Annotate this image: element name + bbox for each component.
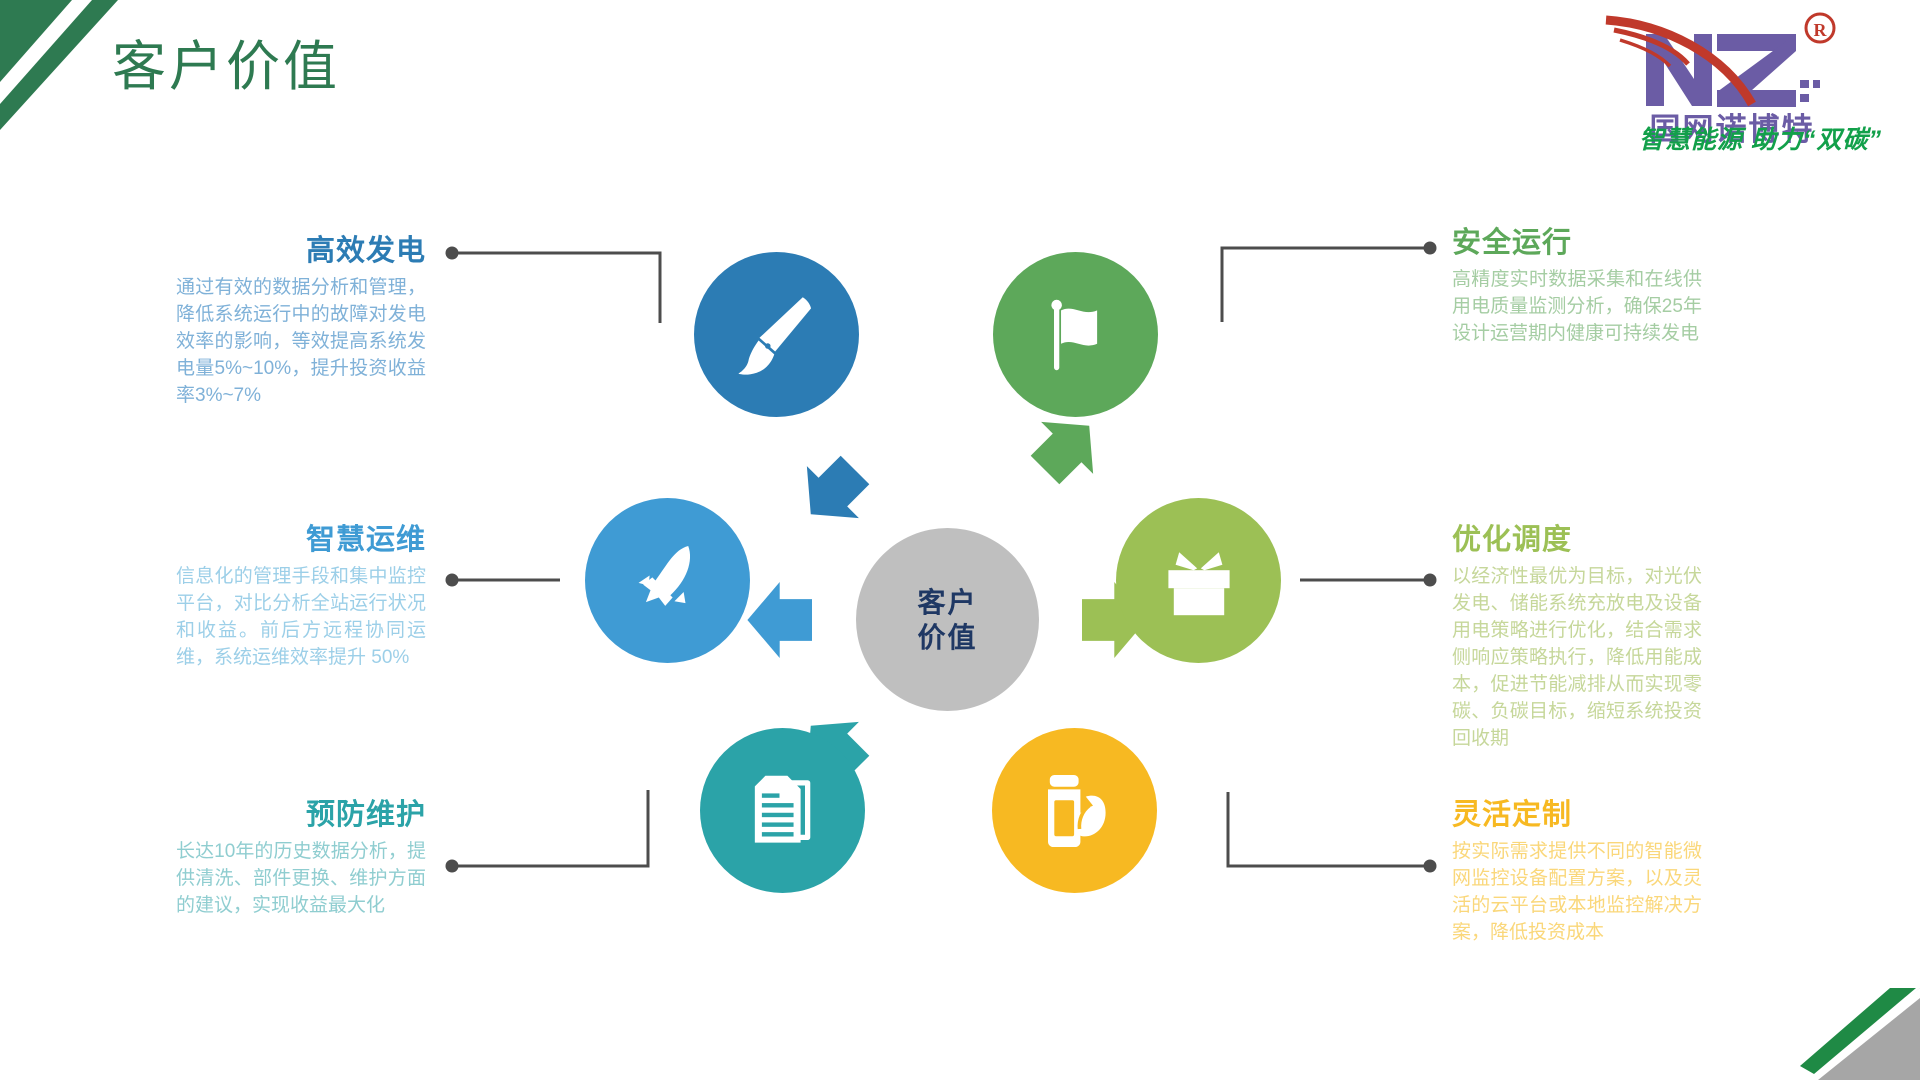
block-heading: 智慧运维 bbox=[176, 525, 426, 557]
block-heading: 安全运行 bbox=[1452, 228, 1702, 260]
gift-box-icon bbox=[1154, 536, 1244, 626]
arrow-up-left bbox=[785, 444, 881, 540]
center-hub-label: 客户 价值 bbox=[917, 585, 977, 655]
node-preventive-maintenance[interactable] bbox=[700, 728, 865, 893]
node-flexible-customization[interactable] bbox=[992, 728, 1157, 893]
text-block-smart-operation-maintenance: 智慧运维 信息化的管理手段和集中监控平台，对比分析全站运行状况和收益。前后方远程… bbox=[176, 525, 426, 672]
center-hub-line2: 价值 bbox=[917, 620, 977, 655]
text-block-high-efficiency-generation: 高效发电 通过有效的数据分析和管理，降低系统运行中的故障对发电效率的影响，等效提… bbox=[176, 236, 426, 410]
corner-decoration-bottom-right bbox=[1770, 988, 1920, 1080]
text-block-flexible-customization: 灵活定制 按实际需求提供不同的智能微网监控设备配置方案，以及灵活的云平台或本地监… bbox=[1452, 800, 1702, 947]
node-smart-operation-maintenance[interactable] bbox=[585, 498, 750, 663]
flag-icon bbox=[1032, 291, 1120, 379]
block-heading: 预防维护 bbox=[176, 800, 426, 832]
text-block-optimized-dispatch: 优化调度 以经济性最优为目标，对光伏发电、储能系统充放电及设备用电策略进行优化，… bbox=[1452, 525, 1702, 753]
block-heading: 优化调度 bbox=[1452, 525, 1702, 557]
node-optimized-dispatch[interactable] bbox=[1116, 498, 1281, 663]
block-heading: 灵活定制 bbox=[1452, 800, 1702, 832]
center-hub: 客户 价值 bbox=[856, 528, 1039, 711]
documents-icon bbox=[739, 767, 827, 855]
slide-canvas: 客户价值 R 国网诺博特 智慧能源 助力“双碳” bbox=[0, 0, 1920, 1080]
bottle-leaf-icon bbox=[1030, 766, 1120, 856]
text-block-preventive-maintenance: 预防维护 长达10年的历史数据分析，提供清洗、部件更换、维护方面的建议，实现收益… bbox=[176, 800, 426, 920]
block-body: 通过有效的数据分析和管理，降低系统运行中的故障对发电效率的影响，等效提高系统发电… bbox=[176, 275, 426, 410]
block-body: 高精度实时数据采集和在线供用电质量监测分析，确保25年设计运营期内健康可持续发电 bbox=[1452, 267, 1702, 348]
block-body: 信息化的管理手段和集中监控平台，对比分析全站运行状况和收益。前后方远程协同运维，… bbox=[176, 564, 426, 672]
node-safe-operation[interactable] bbox=[993, 252, 1158, 417]
block-heading: 高效发电 bbox=[176, 236, 426, 268]
arrow-left bbox=[747, 582, 812, 658]
block-body: 长达10年的历史数据分析，提供清洗、部件更换、维护方面的建议，实现收益最大化 bbox=[176, 839, 426, 920]
node-high-efficiency-generation[interactable] bbox=[694, 252, 859, 417]
block-body: 以经济性最优为目标，对光伏发电、储能系统充放电及设备用电策略进行优化，结合需求侧… bbox=[1452, 564, 1702, 753]
block-body: 按实际需求提供不同的智能微网监控设备配置方案，以及灵活的云平台或本地监控解决方案… bbox=[1452, 839, 1702, 947]
rocket-icon bbox=[622, 535, 714, 627]
paintbrush-icon bbox=[731, 289, 823, 381]
center-hub-line1: 客户 bbox=[917, 585, 977, 620]
text-block-safe-operation: 安全运行 高精度实时数据采集和在线供用电质量监测分析，确保25年设计运营期内健康… bbox=[1452, 228, 1702, 348]
